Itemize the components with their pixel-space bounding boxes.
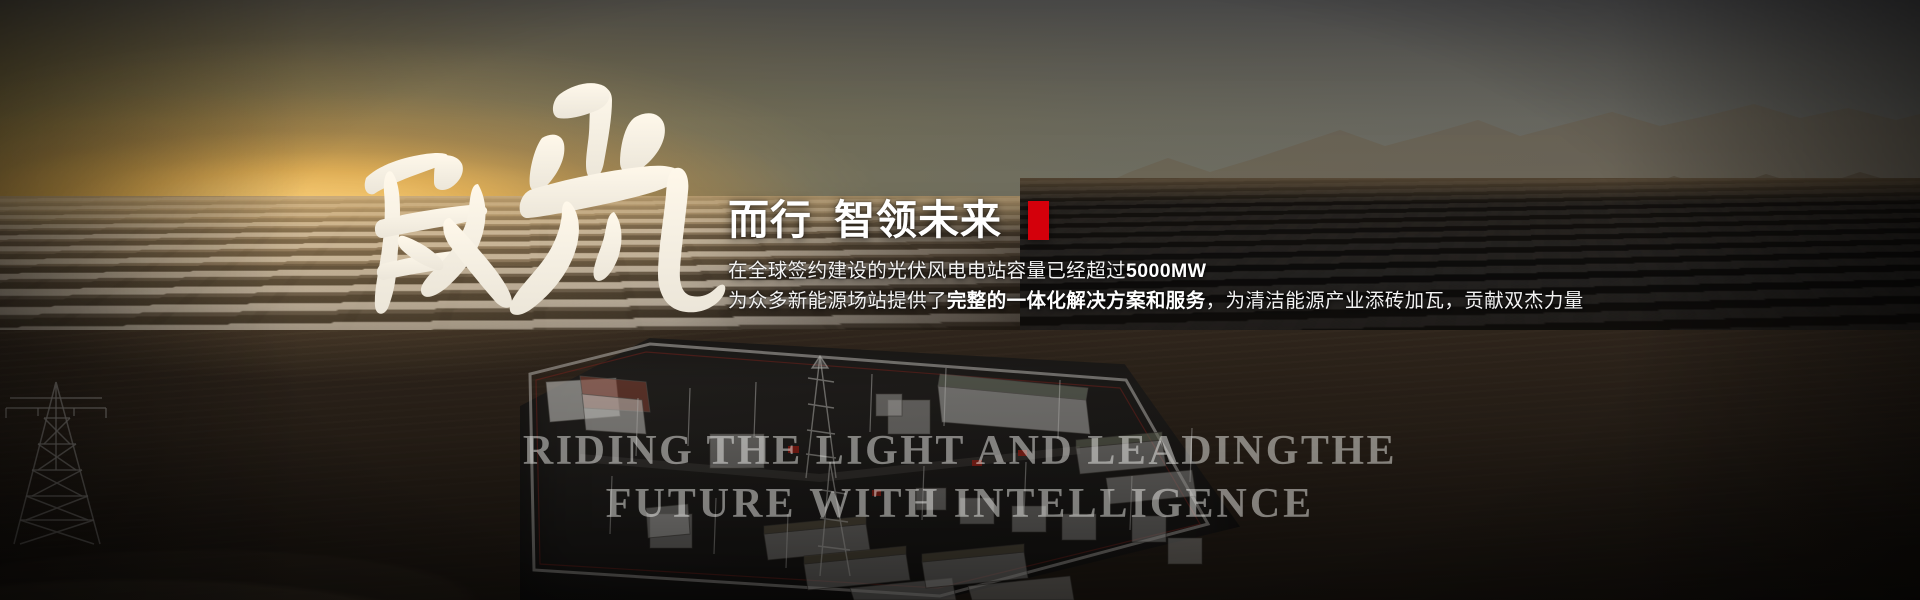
subtitle-2-plain-1: 为众多新能源场站提供了 — [728, 290, 947, 312]
calligraphy-yuguang — [346, 68, 746, 318]
english-tagline-line-2: FUTURE WITH INTELLIGENCE — [0, 478, 1920, 531]
subtitle-1-bold-1: 5000MW — [1126, 260, 1206, 282]
headline-part-1: 而行 — [728, 198, 812, 242]
subtitle-group: 在全球签约建设的光伏风电电站容量已经超过5000MW 为众多新能源场站提供了完整… — [728, 256, 1584, 316]
english-tagline-line-1: RIDING THE LIGHT AND LEADINGTHE — [0, 425, 1920, 478]
subtitle-2-plain-2: ，为清洁能源产业添砖加瓦，贡献双杰力量 — [1206, 290, 1584, 312]
subtitle-1-plain-1: 在全球签约建设的光伏风电电站容量已经超过 — [728, 260, 1126, 282]
page-title: 而行 智领未来 — [728, 198, 1584, 242]
red-accent-bar — [1028, 201, 1049, 240]
copy-block: 而行 智领未来 在全球签约建设的光伏风电电站容量已经超过5000MW 为众多新能… — [728, 198, 1584, 317]
subtitle-line-2: 为众多新能源场站提供了完整的一体化解决方案和服务，为清洁能源产业添砖加瓦，贡献双… — [728, 286, 1584, 316]
headline-part-2: 智领未来 — [834, 198, 1002, 242]
english-tagline: RIDING THE LIGHT AND LEADINGTHE FUTURE W… — [0, 425, 1920, 531]
subtitle-line-1: 在全球签约建设的光伏风电电站容量已经超过5000MW — [728, 256, 1584, 286]
hero-banner: 而行 智领未来 在全球签约建设的光伏风电电站容量已经超过5000MW 为众多新能… — [0, 0, 1920, 600]
subtitle-2-bold-1: 完整的一体化解决方案和服务 — [947, 290, 1206, 312]
